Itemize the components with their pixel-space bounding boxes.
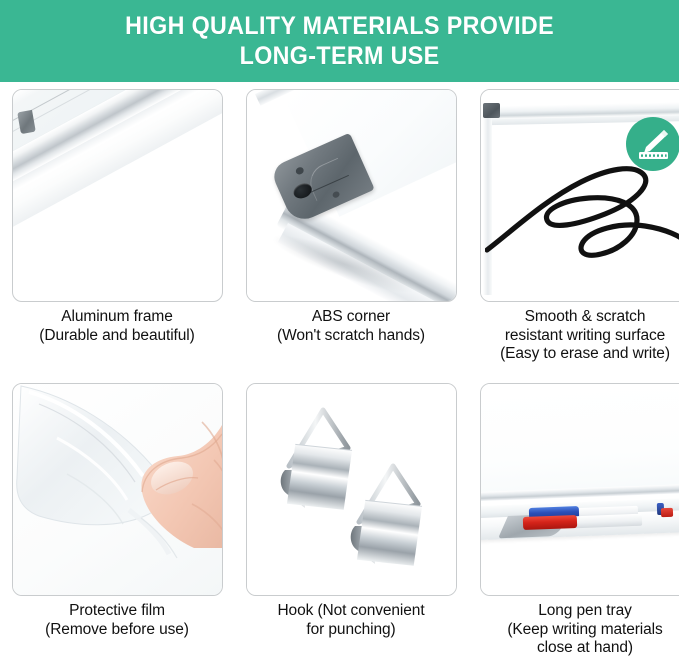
abs-seam-arc <box>303 158 349 201</box>
feature-cell-hooks: Hook (Not convenient for punching) <box>234 376 468 665</box>
feature-cell-abs-corner: ABS corner (Won't scratch hands) <box>234 82 468 376</box>
abs-screw-dot-2 <box>331 190 340 198</box>
whiteboard-panel <box>480 384 679 500</box>
feature-caption-pen-tray: Long pen tray (Keep writing materials cl… <box>474 602 679 658</box>
feature-caption-aluminum-frame: Aluminum frame (Durable and beautiful) <box>6 308 228 345</box>
aluminum-frame-photo <box>12 89 223 302</box>
pen-and-eraser-icon <box>633 124 673 164</box>
feature-cell-protective-film: Protective film (Remove before use) <box>0 376 234 665</box>
abs-screw-dot-1 <box>294 166 304 176</box>
hook-item-2 <box>350 466 421 568</box>
feature-caption-protective-film: Protective film (Remove before use) <box>6 602 228 639</box>
feature-caption-hooks: Hook (Not convenient for punching) <box>240 602 462 639</box>
pen-tray-photo <box>480 383 679 596</box>
easy-to-erase-badge <box>626 117 679 171</box>
far-marker-tip <box>660 508 672 517</box>
metal-hooks-graphic <box>247 384 457 596</box>
writing-surface-photo <box>480 89 679 302</box>
hand-graphic <box>98 398 223 548</box>
feature-cell-aluminum-frame: Aluminum frame (Durable and beautiful) <box>0 82 234 376</box>
protective-film-photo <box>12 383 223 596</box>
feature-cell-pen-tray: Long pen tray (Keep writing materials cl… <box>468 376 679 665</box>
infographic-page: HIGH QUALITY MATERIALS PROVIDE LONG-TERM… <box>0 0 679 665</box>
hook-item-1 <box>280 410 351 512</box>
red-marker-cap <box>522 515 576 530</box>
whiteboard-corner-piece <box>483 103 500 118</box>
abs-corner-photo <box>246 89 457 302</box>
hooks-photo <box>246 383 457 596</box>
frame-corner-bracket-icon <box>17 110 36 134</box>
feature-cell-writing-surface: Smooth & scratch resistant writing surfa… <box>468 82 679 376</box>
feature-caption-writing-surface: Smooth & scratch resistant writing surfa… <box>474 308 679 364</box>
header-banner: HIGH QUALITY MATERIALS PROVIDE LONG-TERM… <box>0 0 679 82</box>
feature-grid: Aluminum frame (Durable and beautiful) <box>0 82 679 665</box>
banner-title: HIGH QUALITY MATERIALS PROVIDE LONG-TERM… <box>125 11 554 71</box>
feature-caption-abs-corner: ABS corner (Won't scratch hands) <box>240 308 462 345</box>
